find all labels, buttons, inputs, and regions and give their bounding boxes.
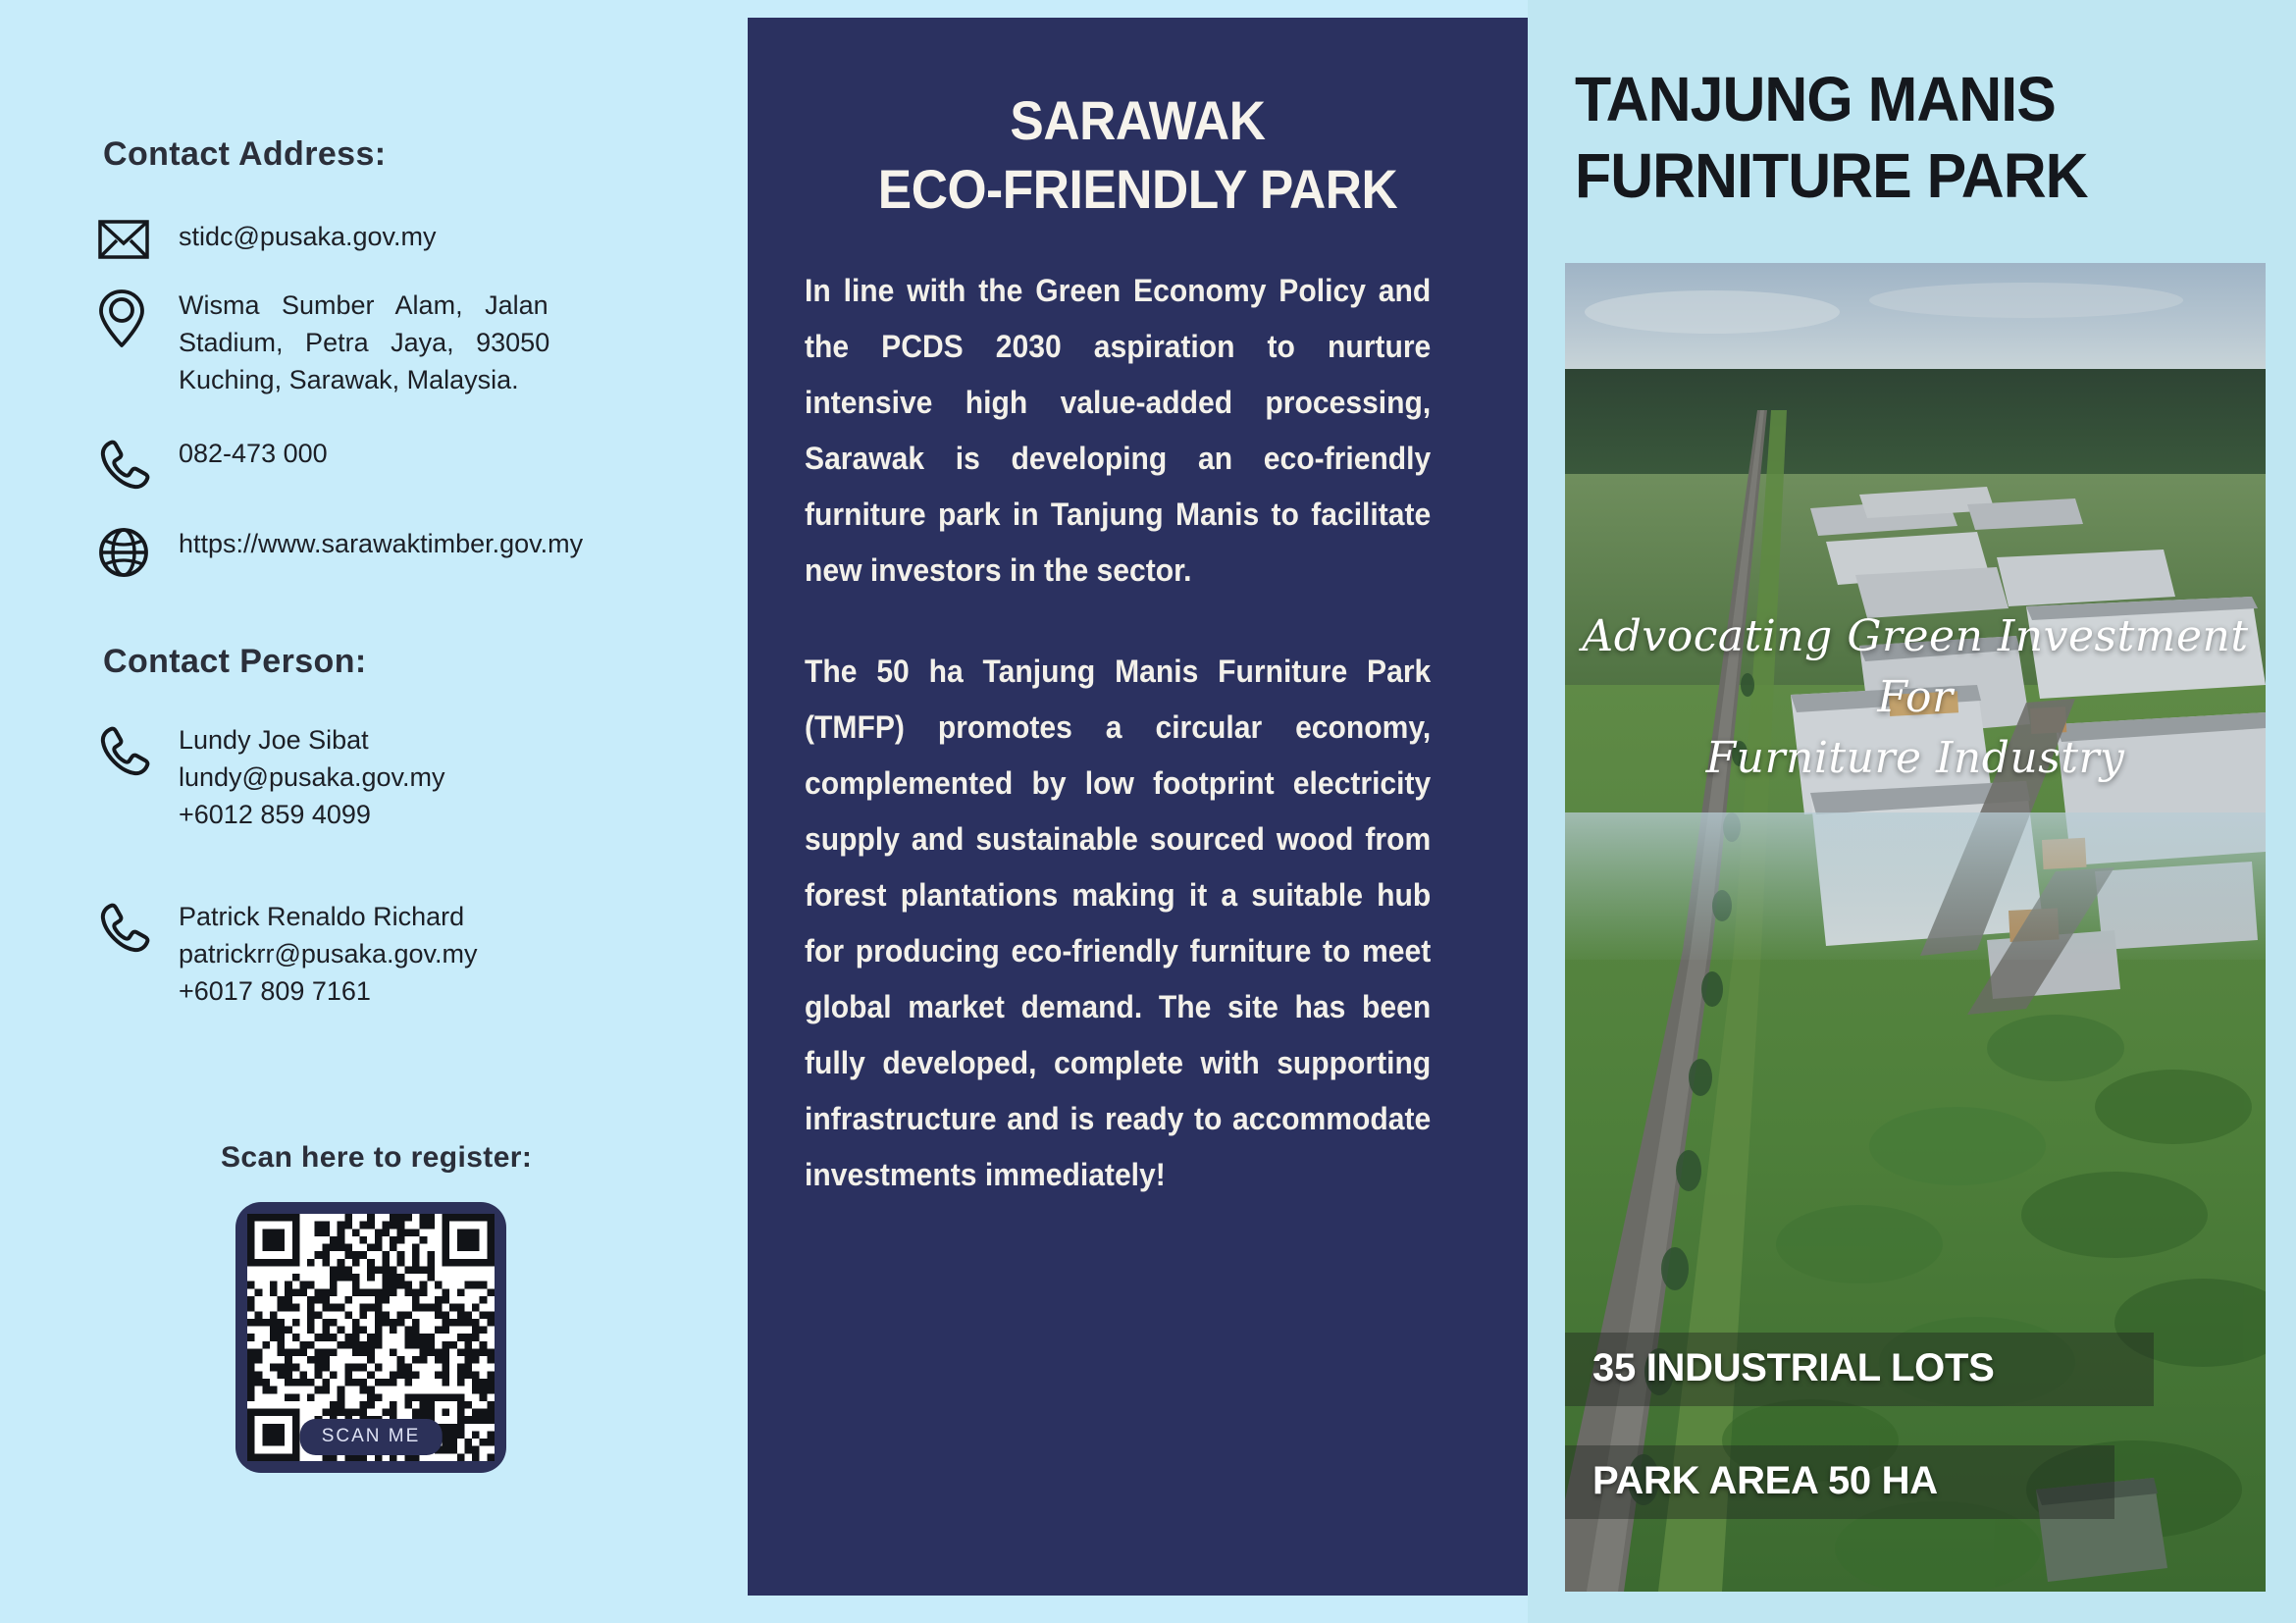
center-panel: SARAWAK ECO-FRIENDLY PARK In line with t… bbox=[748, 0, 1528, 1623]
tagline-line-1: Advocating Green Investment For bbox=[1582, 611, 2248, 722]
center-paragraph-2: The 50 ha Tanjung Manis Furniture Park (… bbox=[805, 644, 1431, 1203]
person-2-name: Patrick Renaldo Richard bbox=[179, 898, 478, 935]
person-2-phone[interactable]: +6017 809 7161 bbox=[179, 972, 478, 1010]
tagline-line-2: Furniture Industry bbox=[1565, 728, 2266, 789]
contact-phone-value[interactable]: 082-473 000 bbox=[179, 435, 328, 472]
contact-person-2-row: Patrick Renaldo Richard patrickrr@pusaka… bbox=[98, 898, 478, 1010]
scan-here-heading: Scan here to register: bbox=[221, 1141, 532, 1175]
center-panel-title: SARAWAK ECO-FRIENDLY PARK bbox=[831, 86, 1444, 224]
globe-icon bbox=[98, 525, 179, 578]
person-1-email[interactable]: lundy@pusaka.gov.my bbox=[179, 759, 445, 796]
phone-icon bbox=[98, 898, 179, 955]
photo-tagline: Advocating Green Investment For Furnitur… bbox=[1565, 606, 2266, 789]
phone-icon bbox=[98, 435, 179, 492]
contact-email-row: stidc@pusaka.gov.my bbox=[98, 218, 437, 259]
contact-website-row: https://www.sarawaktimber.gov.my bbox=[98, 525, 583, 578]
qr-code-inner: SCAN ME bbox=[247, 1214, 495, 1461]
right-title-line-2: FURNITURE PARK bbox=[1575, 137, 2227, 214]
center-title-line-1: SARAWAK bbox=[1010, 89, 1265, 151]
contact-person-1-details: Lundy Joe Sibat lundy@pusaka.gov.my +601… bbox=[179, 721, 445, 833]
map-pin-icon bbox=[98, 287, 179, 349]
center-paragraph-1: In line with the Green Economy Policy an… bbox=[805, 263, 1431, 599]
envelope-icon bbox=[98, 218, 179, 259]
address-line-1: Wisma Sumber Alam, Jalan bbox=[179, 287, 645, 324]
person-2-email[interactable]: patrickrr@pusaka.gov.my bbox=[179, 935, 478, 972]
center-title-line-2: ECO-FRIENDLY PARK bbox=[831, 155, 1444, 224]
contact-address-row: Wisma Sumber Alam, Jalan Stadium, Petra … bbox=[98, 287, 645, 398]
contact-phone-row: 082-473 000 bbox=[98, 435, 328, 492]
contact-person-1-row: Lundy Joe Sibat lundy@pusaka.gov.my +601… bbox=[98, 721, 445, 833]
qr-code[interactable]: SCAN ME bbox=[235, 1202, 506, 1473]
center-panel-card: SARAWAK ECO-FRIENDLY PARK In line with t… bbox=[748, 18, 1528, 1596]
stat-industrial-lots: 35 INDUSTRIAL LOTS bbox=[1565, 1333, 2154, 1406]
address-line-2: Stadium, Petra Jaya, 93050 bbox=[179, 324, 645, 361]
contact-person-heading: Contact Person: bbox=[103, 643, 367, 681]
person-1-name: Lundy Joe Sibat bbox=[179, 721, 445, 759]
contact-email-value[interactable]: stidc@pusaka.gov.my bbox=[179, 218, 437, 255]
right-title-line-1: TANJUNG MANIS bbox=[1575, 64, 2056, 134]
scan-me-label: SCAN ME bbox=[300, 1419, 443, 1455]
address-line-3: Kuching, Sarawak, Malaysia. bbox=[179, 361, 645, 398]
right-panel: TANJUNG MANIS FURNITURE PARK bbox=[1528, 0, 2296, 1623]
contact-address-value: Wisma Sumber Alam, Jalan Stadium, Petra … bbox=[179, 287, 645, 398]
contact-address-heading: Contact Address: bbox=[103, 135, 387, 174]
contact-website-value[interactable]: https://www.sarawaktimber.gov.my bbox=[179, 525, 583, 562]
stat-park-area: PARK AREA 50 HA bbox=[1565, 1445, 2114, 1519]
phone-icon bbox=[98, 721, 179, 778]
brochure: Contact Address: stidc@pusaka.gov.my bbox=[0, 0, 2296, 1623]
person-1-phone[interactable]: +6012 859 4099 bbox=[179, 796, 445, 833]
contact-person-2-details: Patrick Renaldo Richard patrickrr@pusaka… bbox=[179, 898, 478, 1010]
right-panel-title: TANJUNG MANIS FURNITURE PARK bbox=[1575, 61, 2227, 214]
aerial-photo-industrial-park: Advocating Green Investment For Furnitur… bbox=[1565, 263, 2266, 1592]
left-panel-contact: Contact Address: stidc@pusaka.gov.my bbox=[0, 0, 748, 1623]
